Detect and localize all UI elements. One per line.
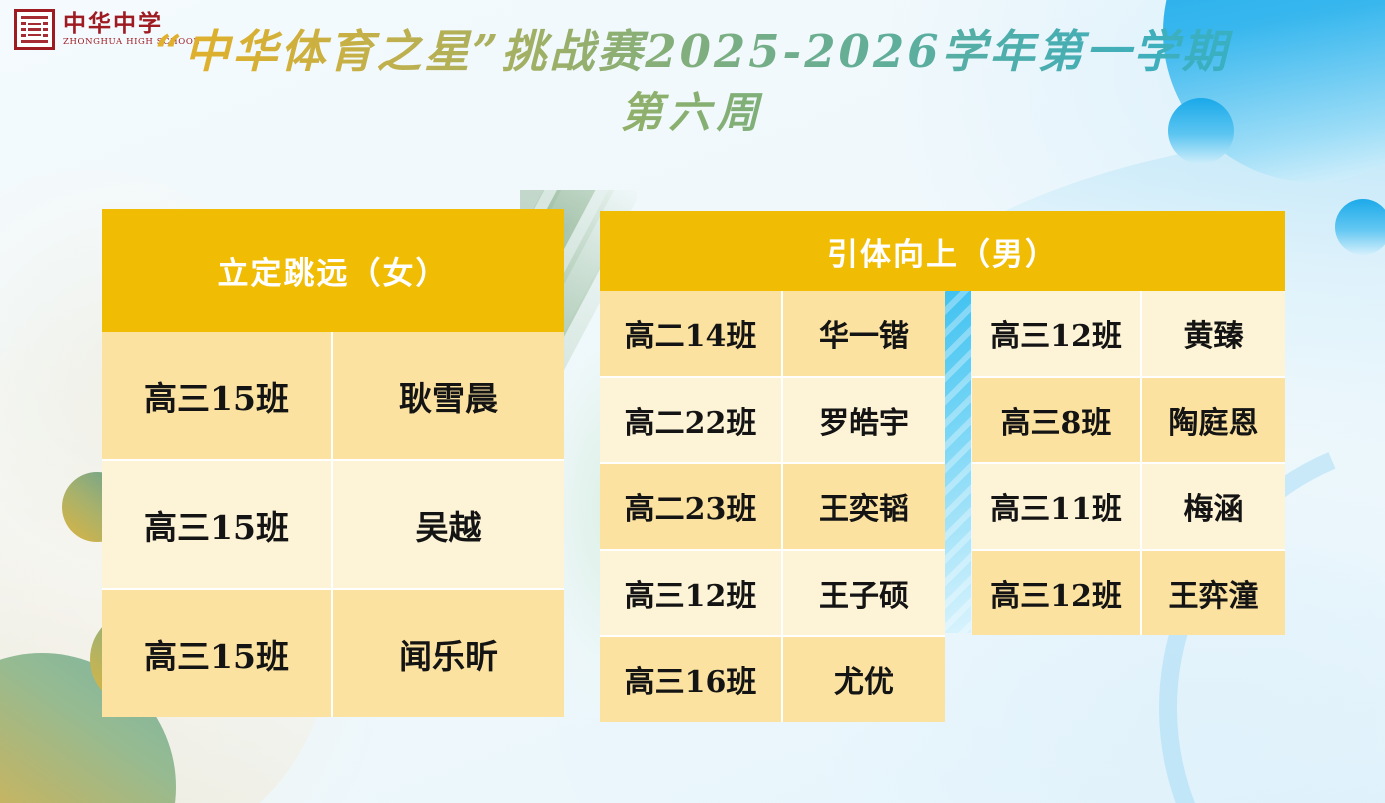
table-row[interactable]: 高二22班 罗皓宇 [600, 378, 945, 465]
table-title-standing-long-jump: 立定跳远（女） [102, 209, 564, 332]
title-line-1: “中华体育之星”挑战赛2025-2026学年第一学期 [0, 20, 1385, 84]
column-group-right: 高三12班 黄臻 高三8班 陶庭恩 高三11班 梅涵 高三12班 王弈潼 [972, 291, 1285, 635]
decor-dot-blue-2 [1335, 199, 1385, 255]
cell-class: 高三15班 [102, 590, 333, 717]
cell-name: 黄臻 [1142, 291, 1285, 376]
column-group: 高三15班 耿雪晨 高三15班 吴越 高三15班 闻乐昕 [102, 332, 564, 717]
table-title-pull-ups: 引体向上（男） [600, 211, 1285, 291]
cell-class: 高二22班 [600, 378, 783, 463]
cell-class: 高三11班 [972, 464, 1142, 549]
cell-name: 梅涵 [1142, 464, 1285, 549]
cell-name: 陶庭恩 [1142, 378, 1285, 463]
table-row[interactable]: 高三8班 陶庭恩 [972, 378, 1285, 465]
page-title: “中华体育之星”挑战赛2025-2026学年第一学期 第六周 [0, 20, 1385, 142]
table-row[interactable]: 高二14班 华一锴 [600, 291, 945, 378]
table-body-pull-ups: 高二14班 华一锴 高二22班 罗皓宇 高二23班 王奕韬 高三12班 王子硕 … [600, 291, 1285, 722]
table-row[interactable]: 高三11班 梅涵 [972, 464, 1285, 551]
cell-class: 高三15班 [102, 461, 333, 588]
table-body-standing-long-jump: 高三15班 耿雪晨 高三15班 吴越 高三15班 闻乐昕 [102, 332, 564, 717]
cell-class: 高三15班 [102, 332, 333, 459]
table-row[interactable]: 高三16班 尤优 [600, 637, 945, 722]
table-row[interactable]: 高三15班 闻乐昕 [102, 590, 564, 717]
table-row[interactable]: 高三12班 黄臻 [972, 291, 1285, 378]
cell-class: 高二23班 [600, 464, 783, 549]
table-row[interactable]: 高二23班 王奕韬 [600, 464, 945, 551]
title-line-2: 第六周 [0, 84, 1385, 142]
cell-name: 尤优 [783, 637, 945, 722]
cell-name: 闻乐昕 [333, 590, 564, 717]
column-group-left: 高二14班 华一锴 高二22班 罗皓宇 高二23班 王奕韬 高三12班 王子硕 … [600, 291, 945, 722]
cell-name: 吴越 [333, 461, 564, 588]
cell-class: 高三12班 [972, 551, 1142, 636]
cell-name: 罗皓宇 [783, 378, 945, 463]
cell-name: 华一锴 [783, 291, 945, 376]
cell-class: 高三12班 [972, 291, 1142, 376]
cell-name: 王奕韬 [783, 464, 945, 549]
table-standing-long-jump-female: 立定跳远（女） 高三15班 耿雪晨 高三15班 吴越 高三15班 闻乐昕 [102, 209, 564, 717]
table-row[interactable]: 高三12班 王弈潼 [972, 551, 1285, 636]
cell-name: 王子硕 [783, 551, 945, 636]
table-pull-ups-male: 引体向上（男） 高二14班 华一锴 高二22班 罗皓宇 高二23班 王奕韬 高三… [600, 211, 1285, 722]
cell-class: 高三8班 [972, 378, 1142, 463]
table-row[interactable]: 高三12班 王子硕 [600, 551, 945, 638]
slide-canvas: 中华中学 ZHONGHUA HIGH SCHOOL “中华体育之星”挑战赛202… [0, 0, 1385, 803]
cell-name: 王弈潼 [1142, 551, 1285, 636]
table-row[interactable]: 高三15班 吴越 [102, 461, 564, 590]
cell-name: 耿雪晨 [333, 332, 564, 459]
cell-class: 高二14班 [600, 291, 783, 376]
table-row[interactable]: 高三15班 耿雪晨 [102, 332, 564, 461]
cell-class: 高三16班 [600, 637, 783, 722]
cell-class: 高三12班 [600, 551, 783, 636]
